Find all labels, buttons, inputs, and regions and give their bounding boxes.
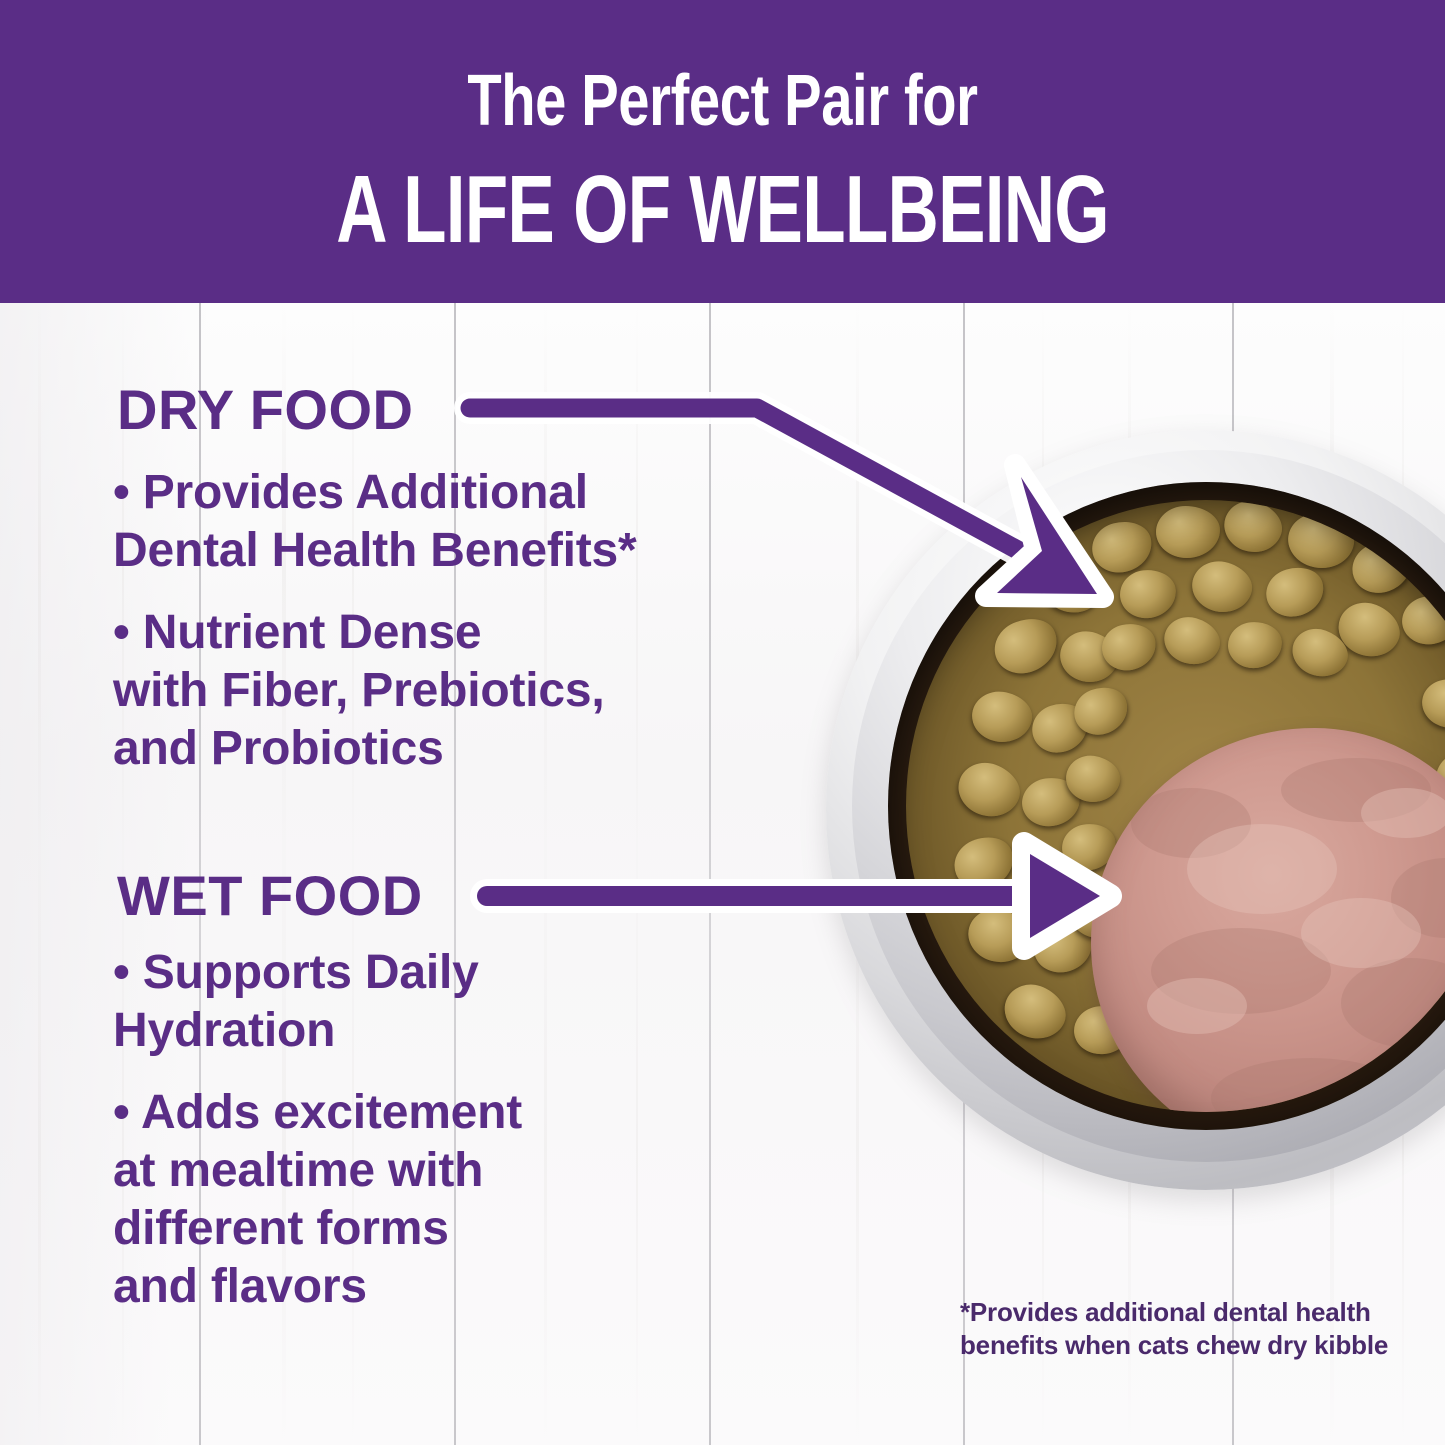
footnote: *Provides additional dental health benef… bbox=[960, 1296, 1390, 1362]
dry-food-bullet-1-line-1: • Provides Additional bbox=[113, 464, 637, 522]
wet-food-bullet-2-line-3: different forms bbox=[113, 1200, 522, 1258]
wet-food-bullet-1-line-1: • Supports Daily bbox=[113, 944, 479, 1002]
dry-food-bullet-2: • Nutrient Dense with Fiber, Prebiotics,… bbox=[113, 604, 605, 778]
wet-food-bullet-2-line-2: at mealtime with bbox=[113, 1142, 522, 1200]
wet-food-bullet-1: • Supports Daily Hydration bbox=[113, 944, 479, 1060]
promo-graphic: The Perfect Pair for A LIFE OF WELLBEING bbox=[0, 0, 1445, 1445]
footnote-line-2: benefits when cats chew dry kibble bbox=[960, 1329, 1390, 1362]
dry-food-bullet-1: • Provides Additional Dental Health Bene… bbox=[113, 464, 637, 580]
wet-food-bullet-2-line-4: and flavors bbox=[113, 1258, 522, 1316]
footnote-line-1: *Provides additional dental health bbox=[960, 1296, 1390, 1329]
wet-food-bullet-2: • Adds excitement at mealtime with diffe… bbox=[113, 1084, 522, 1316]
dry-food-bullet-2-line-3: and Probiotics bbox=[113, 720, 605, 778]
wet-food-heading: WET FOOD bbox=[117, 868, 423, 924]
wet-food-bullet-1-line-2: Hydration bbox=[113, 1002, 479, 1060]
wet-food-bullet-2-line-1: • Adds excitement bbox=[113, 1084, 522, 1142]
dry-food-bullet-2-line-2: with Fiber, Prebiotics, bbox=[113, 662, 605, 720]
dry-food-bullet-2-line-1: • Nutrient Dense bbox=[113, 604, 605, 662]
dry-food-bullet-1-line-2: Dental Health Benefits* bbox=[113, 522, 637, 580]
dry-food-heading: DRY FOOD bbox=[117, 382, 413, 438]
wet-food-arrow bbox=[487, 844, 1110, 948]
